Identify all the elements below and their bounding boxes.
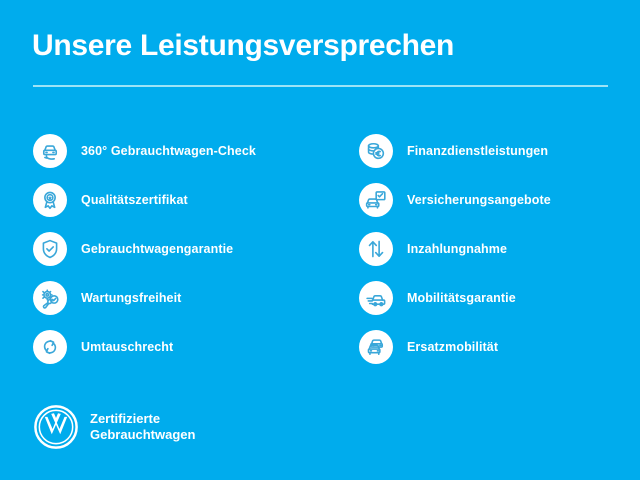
exchange-arrows-icon xyxy=(33,330,67,364)
features-column-right: Finanzdienstleistungen Versicherungsange… xyxy=(359,126,551,371)
title-divider xyxy=(33,85,608,87)
feature-item-360-gebrauchtwagen-check[interactable]: 360° Gebrauchtwagen-Check xyxy=(33,126,256,175)
footer-logo-lockup: Zertifizierte Gebrauchtwagen xyxy=(33,404,195,450)
shield-check-icon xyxy=(33,232,67,266)
footer-line-2: Gebrauchtwagen xyxy=(90,427,195,442)
car-360-check-icon xyxy=(33,134,67,168)
up-down-arrows-icon xyxy=(359,232,393,266)
feature-item-qualitaetszertifikat[interactable]: Qualitätszertifikat xyxy=(33,175,256,224)
feature-item-gebrauchtwagengarantie[interactable]: Gebrauchtwagengarantie xyxy=(33,224,256,273)
coins-euro-icon xyxy=(359,134,393,168)
feature-label: Qualitätszertifikat xyxy=(81,193,188,207)
feature-label: Ersatzmobilität xyxy=(407,340,498,354)
page-title: Unsere Leistungsversprechen xyxy=(32,29,454,63)
feature-label: 360° Gebrauchtwagen-Check xyxy=(81,144,256,158)
feature-label: Umtauschrecht xyxy=(81,340,173,354)
feature-label: Versicherungsangebote xyxy=(407,193,551,207)
feature-item-inzahlungnahme[interactable]: Inzahlungnahme xyxy=(359,224,551,273)
feature-item-umtauschrecht[interactable]: Umtauschrecht xyxy=(33,322,256,371)
footer-text: Zertifizierte Gebrauchtwagen xyxy=(90,411,195,443)
rosette-award-icon xyxy=(33,183,67,217)
feature-item-versicherungsangebote[interactable]: Versicherungsangebote xyxy=(359,175,551,224)
feature-item-ersatzmobilitaet[interactable]: Ersatzmobilität xyxy=(359,322,551,371)
feature-item-mobilitaetsgarantie[interactable]: Mobilitätsgarantie xyxy=(359,273,551,322)
vw-logo-icon xyxy=(33,404,79,450)
two-cars-icon xyxy=(359,330,393,364)
feature-label: Gebrauchtwagengarantie xyxy=(81,242,233,256)
features-column-left: 360° Gebrauchtwagen-Check Qualitätszerti… xyxy=(33,126,256,371)
feature-label: Mobilitätsgarantie xyxy=(407,291,516,305)
car-motion-icon xyxy=(359,281,393,315)
wrench-gear-check-icon xyxy=(33,281,67,315)
feature-label: Finanzdienstleistungen xyxy=(407,144,548,158)
car-document-icon xyxy=(359,183,393,217)
feature-label: Inzahlungnahme xyxy=(407,242,507,256)
feature-item-finanzdienstleistungen[interactable]: Finanzdienstleistungen xyxy=(359,126,551,175)
slide-root: Unsere Leistungsversprechen 360° Gebrauc… xyxy=(0,0,640,480)
feature-item-wartungsfreiheit[interactable]: Wartungsfreiheit xyxy=(33,273,256,322)
footer-line-1: Zertifizierte xyxy=(90,411,160,426)
feature-label: Wartungsfreiheit xyxy=(81,291,181,305)
